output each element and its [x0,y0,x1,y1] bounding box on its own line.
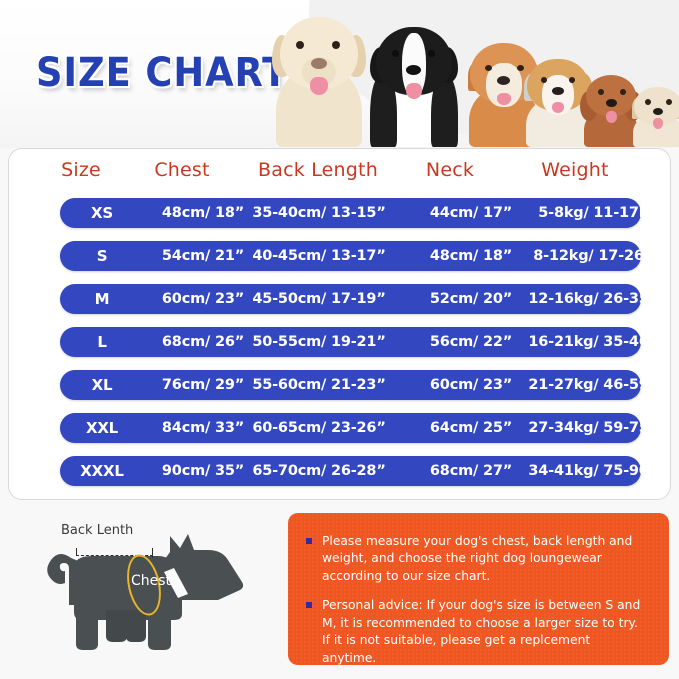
cell-back-length: 55-60cm/ 21-23” [239,370,399,400]
shiba-nose [497,76,510,85]
corgi-tongue [552,102,564,113]
size-chart-table: Size Chest Back Length Neck Weight XS 48… [8,148,671,500]
cell-neck: 64cm/ 25” [399,413,543,443]
table-row[interactable]: S 54cm/ 21” 40-45cm/ 13-17” 48cm/ 18” 8-… [60,241,641,271]
shiba-tongue [497,93,511,105]
cell-back-length: 45-50cm/ 17-19” [239,284,399,314]
dog-labrador-retriever [270,7,368,145]
cell-weight: 8-12kg/ 17-26lb [524,241,668,271]
labrador-eye-left [296,41,304,49]
column-header-chest: Chest [110,159,254,181]
table-row[interactable]: M 60cm/ 23” 45-50cm/ 17-19” 52cm/ 20” 12… [60,284,641,314]
labrador-nose [311,58,327,69]
table-row[interactable]: XL 76cm/ 29” 55-60cm/ 21-23” 60cm/ 23” 2… [60,370,641,400]
corgi-eye-right [569,77,575,83]
dog-pomeranian [630,83,679,145]
cell-neck: 48cm/ 18” [399,241,543,271]
table-row[interactable]: L 68cm/ 26” 50-55cm/ 19-21” 56cm/ 22” 16… [60,327,641,357]
poodle-eye-right [620,89,626,95]
dog-border-collie [368,17,460,145]
chest-label: Chest [131,573,171,589]
corgi-nose [552,87,564,95]
pomeranian-eye-left [645,99,651,105]
back-length-tick-right [152,548,153,558]
dog-photo-strip [258,0,679,145]
cell-back-length: 65-70cm/ 26-28” [239,456,399,486]
cell-back-length: 40-45cm/ 13-17” [239,241,399,271]
back-length-tick-left [76,548,77,556]
notice-box: Please measure your dog's chest, back le… [288,513,669,665]
notice-item: Please measure your dog's chest, back le… [306,533,647,585]
cell-weight: 16-21kg/ 35-46lb [524,327,668,357]
cell-neck: 60cm/ 23” [399,370,543,400]
table-header-row: Size Chest Back Length Neck Weight [9,159,672,193]
page-title: SIZE CHART [36,50,288,96]
shiba-eye-left [485,65,492,71]
collie-nose [406,65,421,75]
measurement-diagram: Back Lenth Chest [14,510,276,672]
column-header-neck: Neck [378,159,522,181]
table-row[interactable]: XS 48cm/ 18” 35-40cm/ 13-15” 44cm/ 17” 5… [60,198,641,228]
pomeranian-eye-right [666,99,672,105]
poodle-tongue [606,111,617,123]
column-header-weight: Weight [503,159,647,181]
collie-tongue [406,83,422,99]
hero-banner: SIZE CHART [0,0,679,148]
cell-back-length: 35-40cm/ 13-15” [239,198,399,228]
cell-neck: 44cm/ 17” [399,198,543,228]
poodle-nose [606,99,617,107]
labrador-tongue [310,77,328,95]
collie-eye-right [428,50,435,57]
cell-neck: 68cm/ 27” [399,456,543,486]
cell-weight: 5-8kg/ 11-17lb [524,198,668,228]
cell-weight: 21-27kg/ 46-59lb [524,370,668,400]
cell-weight: 34-41kg/ 75-90lb [524,456,668,486]
cell-weight: 12-16kg/ 26-35lb [524,284,668,314]
column-header-back-length: Back Length [238,159,398,181]
pomeranian-tongue [653,118,663,129]
collie-eye-left [392,50,399,57]
cell-weight: 27-34kg/ 59-75lb [524,413,668,443]
cell-neck: 56cm/ 22” [399,327,543,357]
cell-neck: 52cm/ 20” [399,284,543,314]
pomeranian-nose [653,108,663,115]
notice-item: Personal advice: If your dog's size is b… [306,597,647,667]
cell-back-length: 50-55cm/ 19-21” [239,327,399,357]
cell-back-length: 60-65cm/ 23-26” [239,413,399,443]
labrador-eye-right [332,41,340,49]
corgi-eye-left [541,77,547,83]
table-row[interactable]: XXXL 90cm/ 35” 65-70cm/ 26-28” 68cm/ 27”… [60,456,641,486]
table-row[interactable]: XXL 84cm/ 33” 60-65cm/ 23-26” 64cm/ 25” … [60,413,641,443]
poodle-eye-left [598,89,604,95]
